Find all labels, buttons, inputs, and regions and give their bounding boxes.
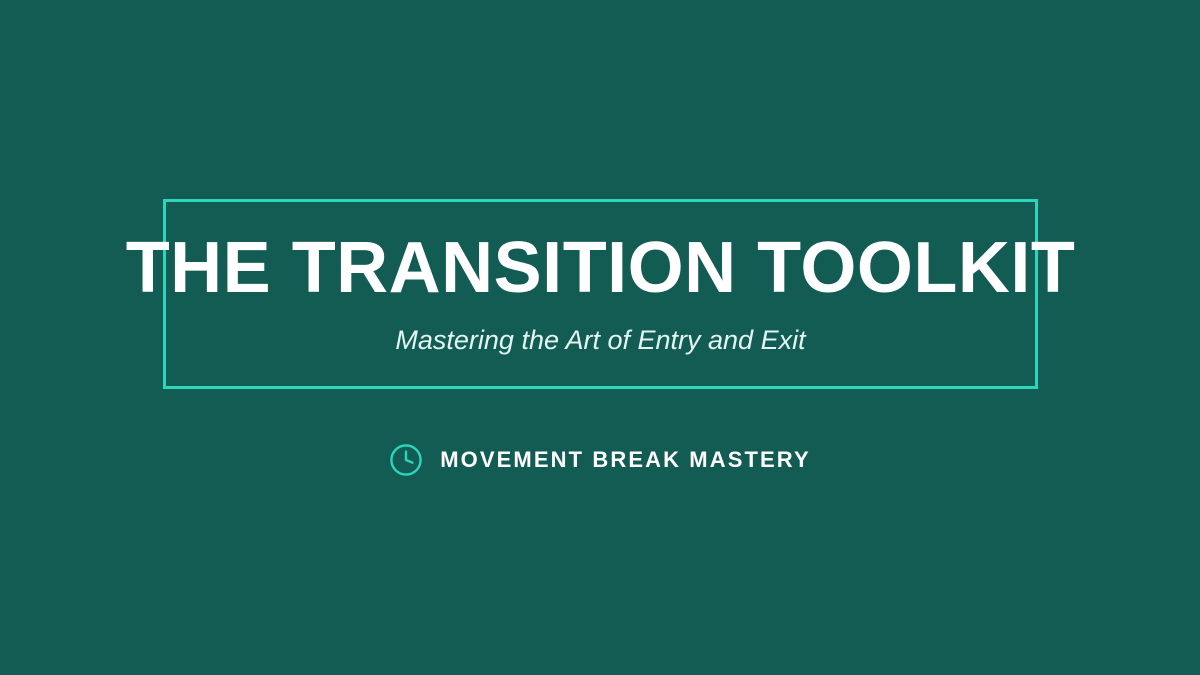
clock-icon — [389, 443, 423, 477]
slide-subtitle: Mastering the Art of Entry and Exit — [395, 326, 805, 356]
badge-label: MOVEMENT BREAK MASTERY — [440, 449, 811, 471]
brand-badge: MOVEMENT BREAK MASTERY — [0, 443, 1200, 477]
page-title: THE TRANSITION TOOLKIT — [126, 232, 1076, 304]
title-slide: THE TRANSITION TOOLKIT Mastering the Art… — [0, 0, 1200, 675]
title-frame: THE TRANSITION TOOLKIT Mastering the Art… — [163, 199, 1038, 389]
